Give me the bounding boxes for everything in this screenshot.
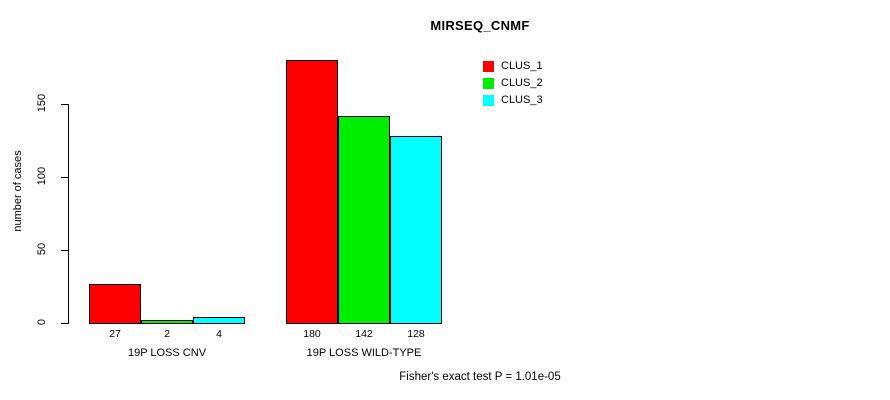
legend-color-swatch	[483, 61, 494, 72]
barplot-figure: MIRSEQ_CNMF number of cases 050100150 27…	[0, 0, 890, 400]
bar	[286, 60, 338, 324]
statistical-test-annotation: Fisher's exact test P = 1.01e-05	[35, 371, 890, 383]
legend-color-swatch	[483, 78, 494, 89]
y-axis-tick-label: 100	[36, 156, 48, 196]
bar-value-label: 180	[286, 328, 338, 340]
bar-value-label: 4	[193, 328, 245, 340]
x-axis-group-label: 19P LOSS WILD-TYPE	[226, 347, 502, 359]
legend-label: CLUS_1	[501, 60, 543, 72]
bar-value-label: 27	[89, 328, 141, 340]
legend-item: CLUS_1	[483, 58, 543, 74]
y-axis-tick-label: 150	[36, 83, 48, 123]
y-axis-tick	[61, 177, 69, 178]
legend-item: CLUS_2	[483, 75, 543, 91]
bar	[141, 320, 193, 324]
y-axis-tick	[61, 323, 69, 324]
bar-value-label: 2	[141, 328, 193, 340]
legend-item: CLUS_3	[483, 92, 543, 108]
legend-label: CLUS_3	[501, 94, 543, 106]
bar	[89, 284, 141, 324]
bar-value-label: 142	[338, 328, 390, 340]
bar	[390, 136, 442, 324]
bar-value-label: 128	[390, 328, 442, 340]
bar	[338, 116, 390, 324]
y-axis-title: number of cases	[12, 121, 24, 261]
y-axis-tick-label: 50	[36, 229, 48, 269]
legend-color-swatch	[483, 95, 494, 106]
y-axis-tick	[61, 104, 69, 105]
legend-label: CLUS_2	[501, 77, 543, 89]
y-axis-line	[68, 104, 69, 324]
y-axis-tick	[61, 250, 69, 251]
bar	[193, 317, 245, 324]
page-title: MIRSEQ_CNMF	[35, 18, 890, 33]
legend: CLUS_1CLUS_2CLUS_3	[483, 58, 543, 109]
y-axis-tick-label: 0	[36, 302, 48, 342]
